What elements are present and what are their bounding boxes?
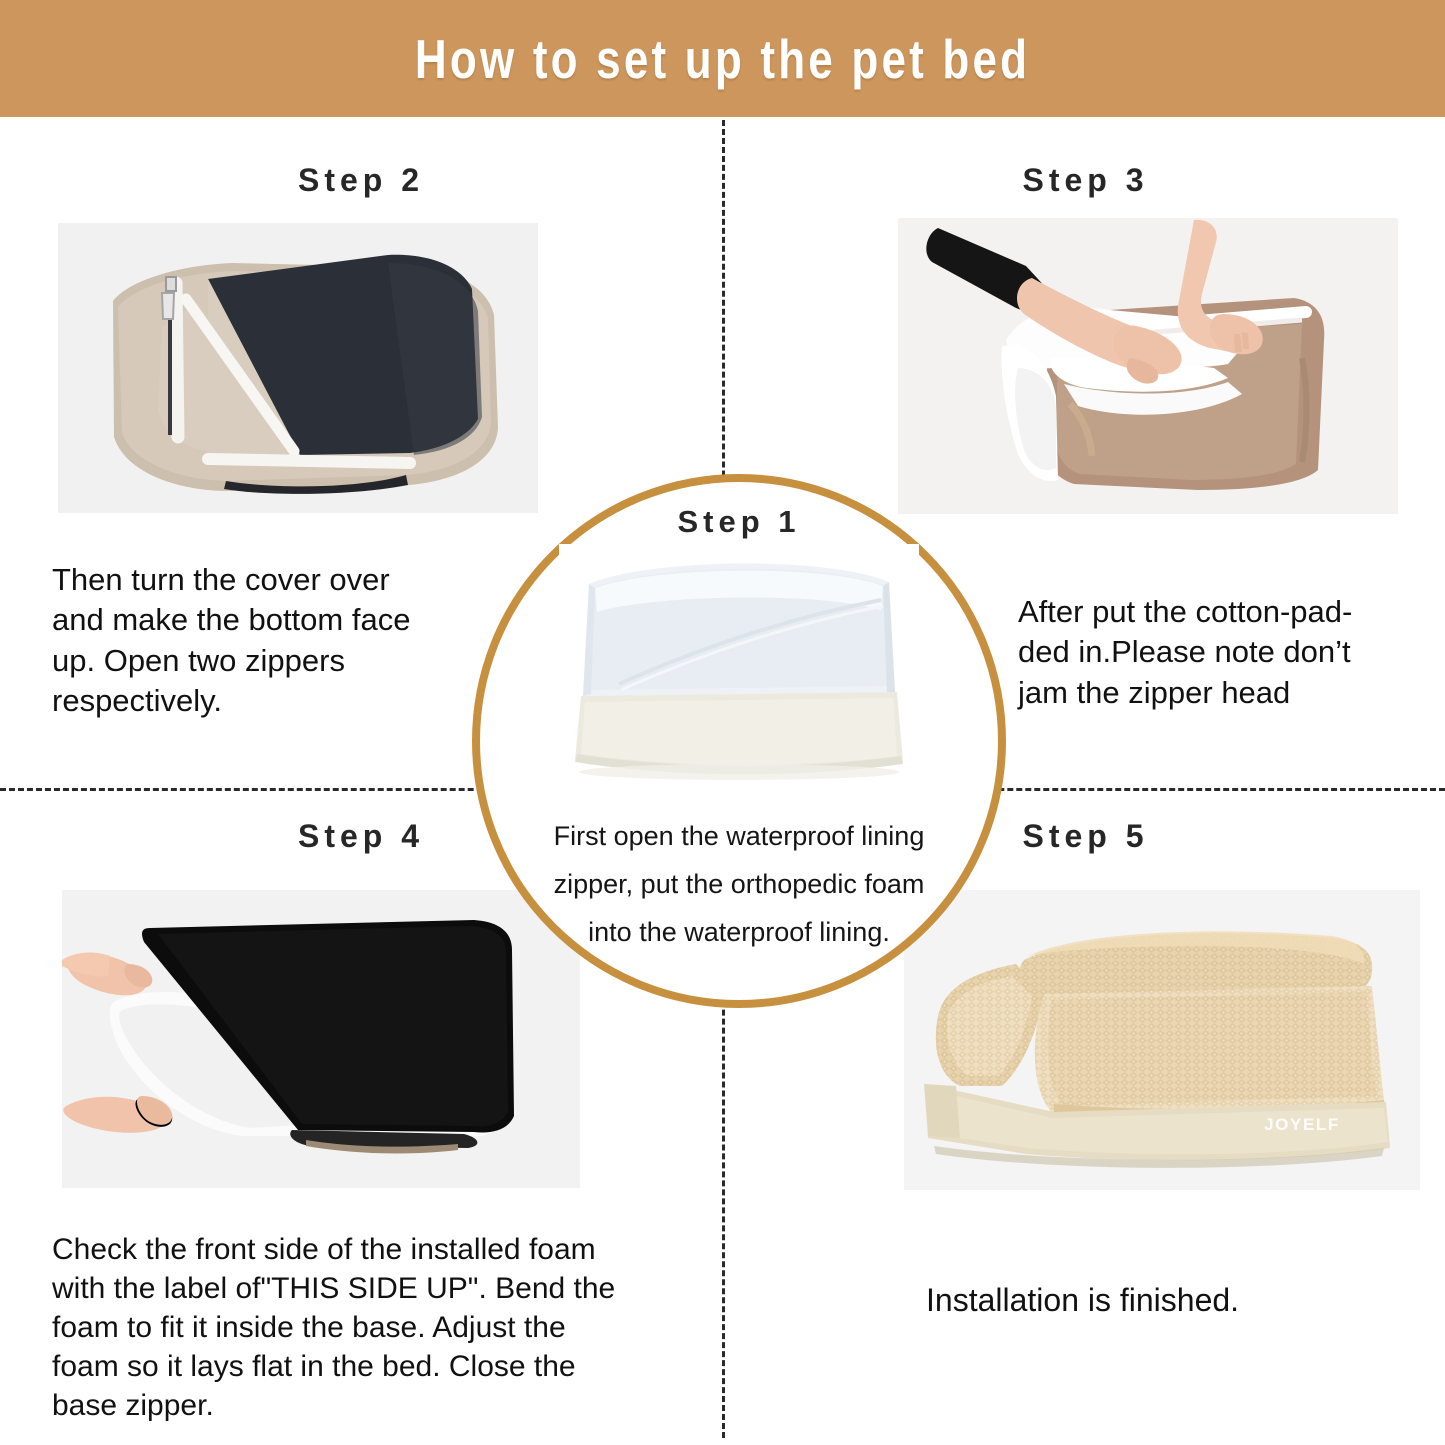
step-2-photo — [58, 223, 538, 513]
step-1-text: First open the waterproof lining zipper,… — [504, 812, 974, 956]
step-5-photo: JOYELF — [904, 890, 1420, 1190]
step-3-label: Step 3 — [726, 162, 1445, 199]
step-3-text: After put the cotton-pad- ded in.Please … — [1018, 592, 1413, 713]
step-2-label: Step 2 — [0, 162, 722, 199]
step-2-text: Then turn the cover over and make the bo… — [52, 560, 482, 721]
step-4-text: Check the front side of the installed fo… — [52, 1230, 702, 1425]
header-banner: How to set up the pet bed — [0, 0, 1445, 117]
step-1-photo — [559, 544, 919, 806]
brand-logo-text: JOYELF — [1264, 1115, 1340, 1134]
step-1-circle: Step 1 — [472, 474, 1006, 1008]
step-1-label: Step 1 — [677, 504, 800, 540]
infographic-page: How to set up the pet bed Step 2 — [0, 0, 1445, 1445]
step-4-photo — [62, 890, 580, 1188]
page-title: How to set up the pet bed — [415, 27, 1030, 91]
step-3-photo — [898, 218, 1398, 514]
step-5-text: Installation is finished. — [926, 1280, 1445, 1322]
